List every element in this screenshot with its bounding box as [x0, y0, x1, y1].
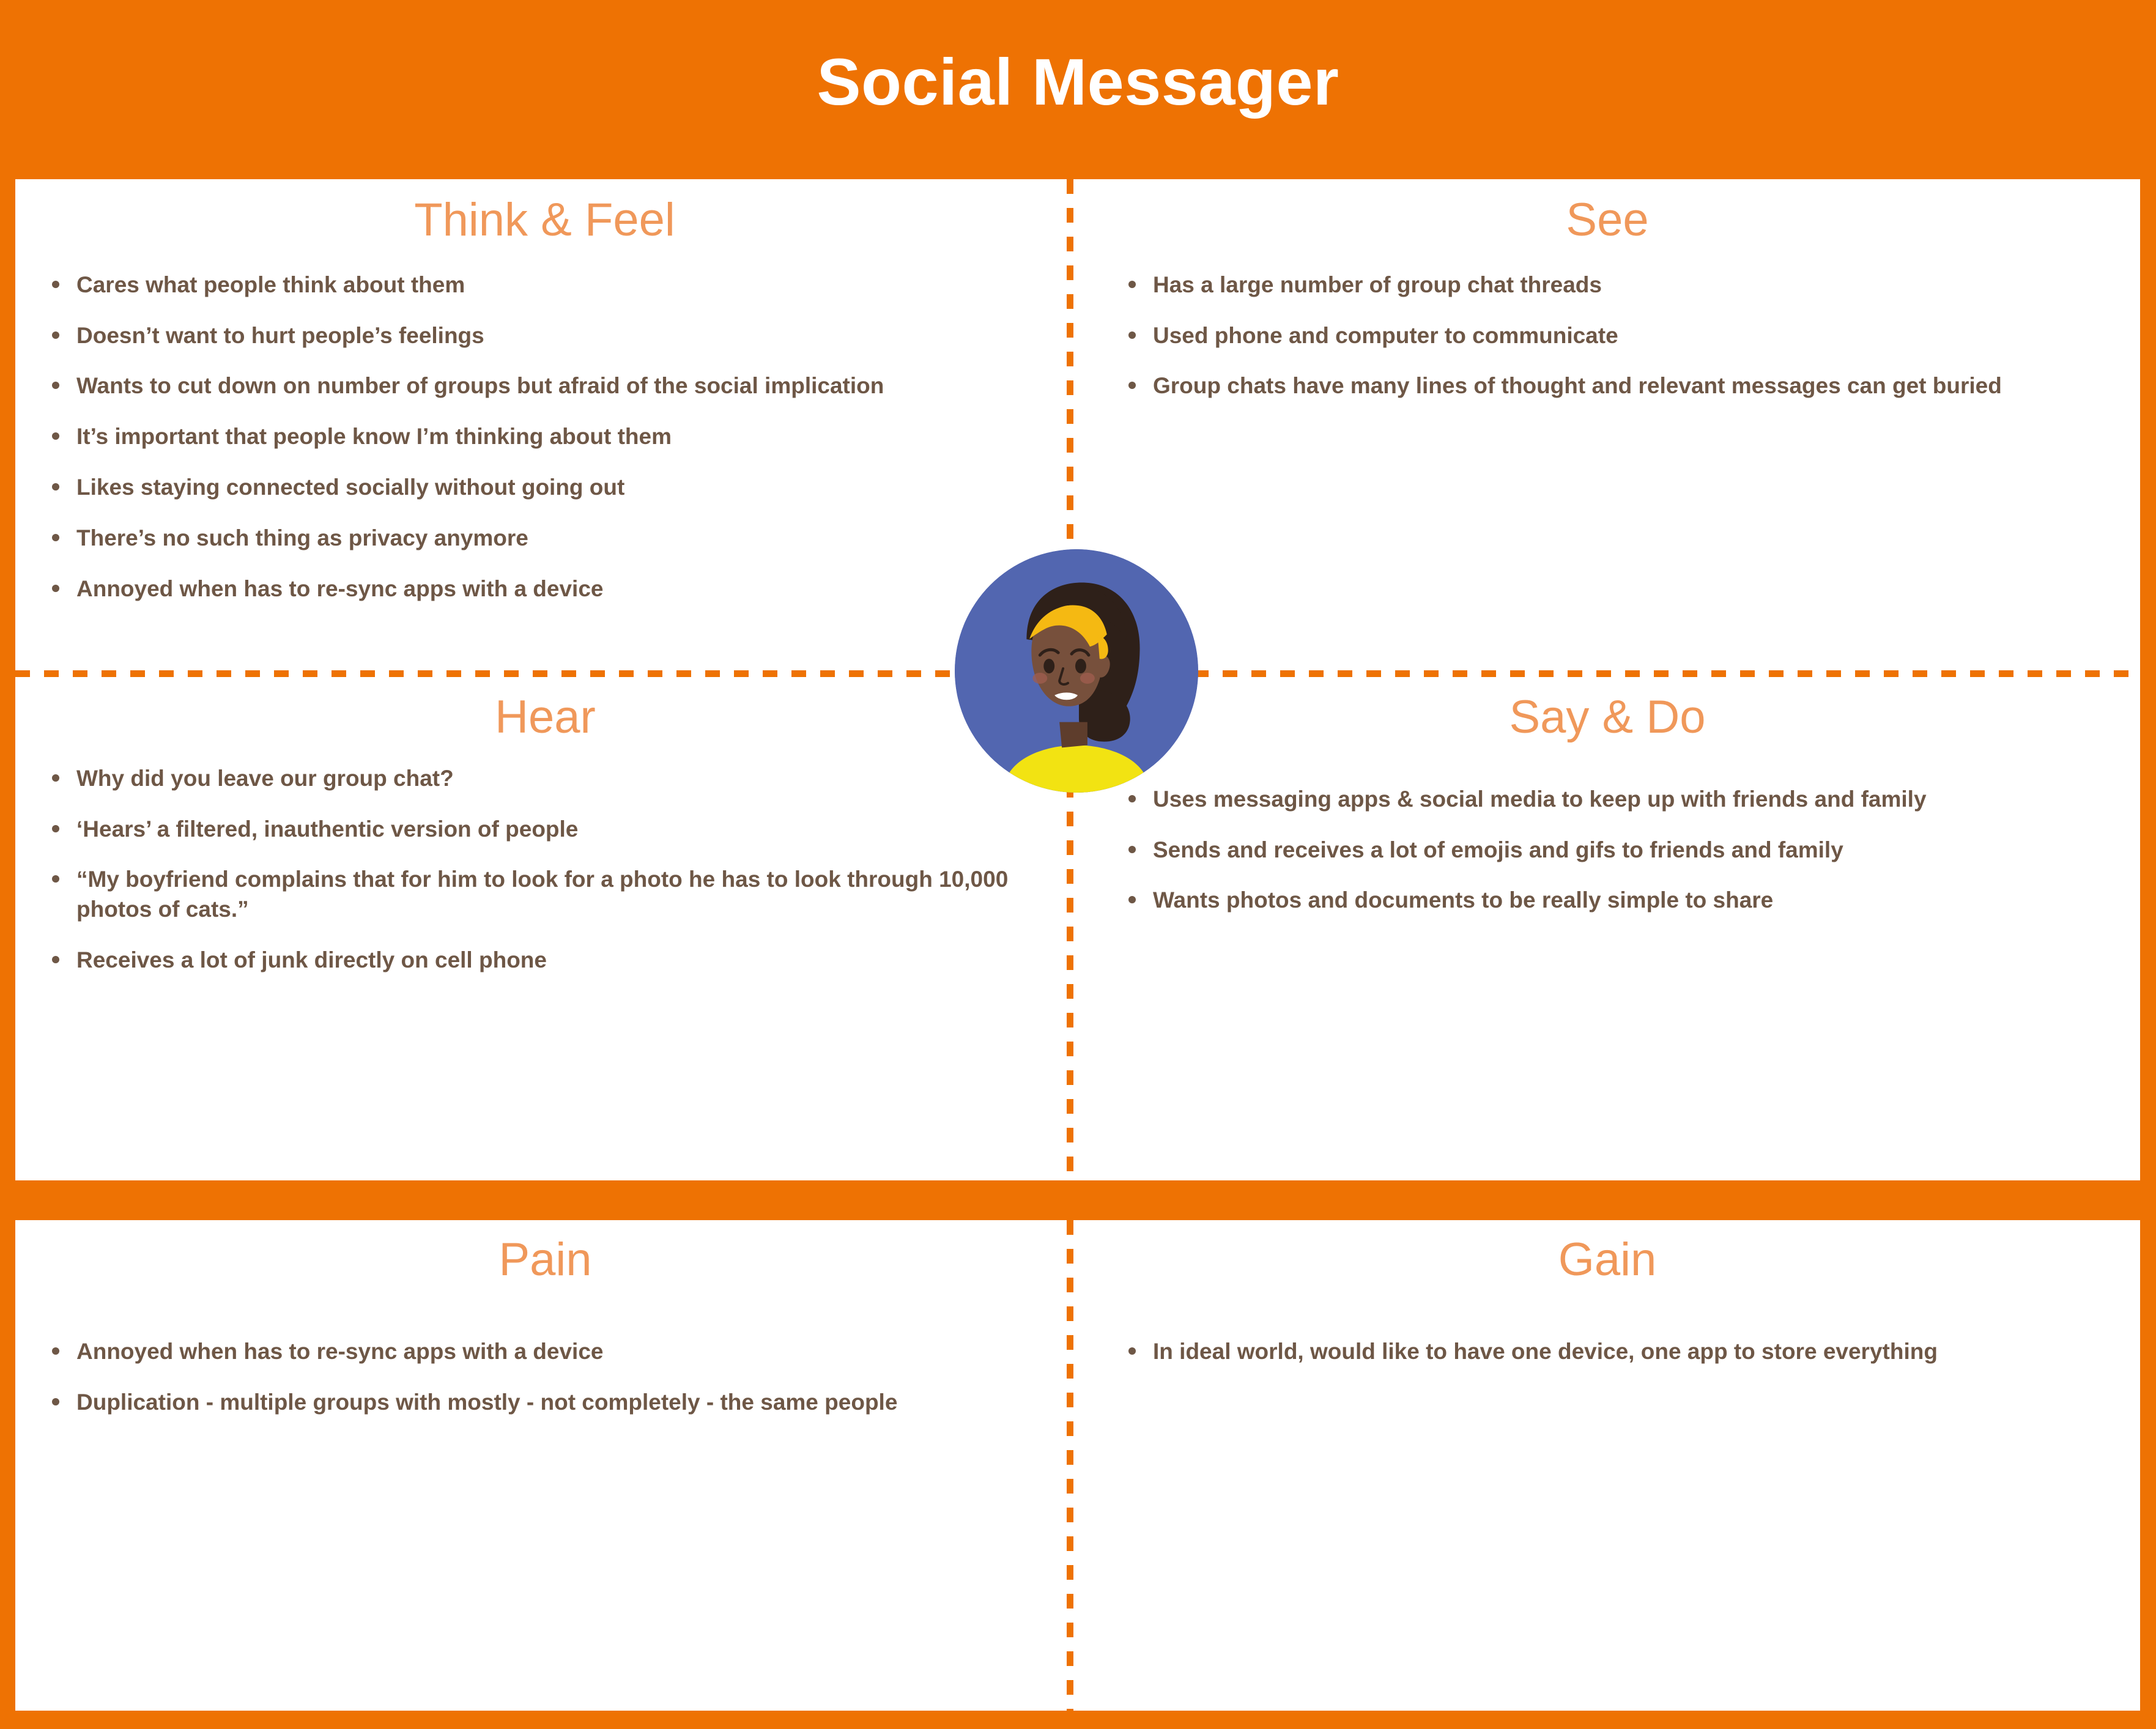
list-item: Used phone and computer to communicate — [1121, 321, 2103, 351]
list-item-text: Sends and receives a lot of emojis and g… — [1153, 837, 1843, 862]
list-item-text: Uses messaging apps & social media to ke… — [1153, 787, 1927, 812]
list-item: In ideal world, would like to have one d… — [1121, 1337, 2103, 1367]
list-item: Uses messaging apps & social media to ke… — [1121, 785, 2103, 815]
list-item-text: Wants photos and documents to be really … — [1153, 887, 1773, 913]
list-item-text: Annoyed when has to re-sync apps with a … — [76, 576, 604, 601]
title-band: Social Messager — [0, 0, 2156, 179]
list-item: Sends and receives a lot of emojis and g… — [1121, 835, 2103, 865]
list-item: There’s no such thing as privacy anymore — [45, 524, 1041, 554]
bullet-dot-icon — [52, 875, 59, 883]
list-item-text: Duplication - multiple groups with mostl… — [76, 1390, 897, 1415]
bullet-list-see: Has a large number of group chat threads… — [1121, 270, 2103, 401]
bullet-dot-icon — [52, 825, 59, 832]
section-pain: Pain Annoyed when has to re-sync apps wi… — [15, 1235, 1067, 1438]
list-item: Receives a lot of junk directly on cell … — [45, 946, 1042, 976]
section-gain: Gain In ideal world, would like to have … — [1073, 1235, 2140, 1388]
quadrant-say-do: Say & Do Uses messaging apps & social me… — [1073, 693, 2140, 936]
quadrant-hear: Hear Why did you leave our group chat? ‘… — [15, 693, 1067, 996]
quadrant-title-think-feel: Think & Feel — [46, 196, 1043, 245]
persona-avatar — [955, 549, 1198, 793]
list-item-text: Has a large number of group chat threads — [1153, 272, 1602, 297]
list-item: Wants to cut down on number of groups bu… — [45, 371, 1041, 401]
quadrant-see: See Has a large number of group chat thr… — [1073, 196, 2140, 422]
list-item-text: Group chats have many lines of thought a… — [1153, 373, 2002, 398]
bullet-dot-icon — [52, 432, 59, 440]
list-item: Has a large number of group chat threads — [1121, 270, 2103, 300]
list-item: Why did you leave our group chat? — [45, 764, 1042, 794]
bullet-list-think-feel: Cares what people think about them Doesn… — [45, 270, 1041, 604]
section-title-gain: Gain — [1116, 1235, 2099, 1284]
quadrant-title-say-do: Say & Do — [1116, 693, 2099, 742]
bullet-dot-icon — [1128, 795, 1136, 802]
quadrant-title-see: See — [1116, 196, 2099, 245]
page-title: Social Messager — [817, 49, 1339, 131]
bullet-dot-icon — [52, 534, 59, 541]
quadrant-title-hear: Hear — [46, 693, 1044, 742]
bullet-dot-icon — [1128, 896, 1136, 903]
bullet-list-gain: In ideal world, would like to have one d… — [1121, 1337, 2103, 1367]
list-item-text: Receives a lot of junk directly on cell … — [76, 947, 547, 972]
list-item: Wants photos and documents to be really … — [1121, 886, 2103, 916]
list-item: ‘Hears’ a filtered, inauthentic version … — [45, 815, 1042, 845]
list-item: Group chats have many lines of thought a… — [1121, 371, 2103, 401]
list-item-text: Likes staying connected socially without… — [76, 475, 624, 500]
bullet-dot-icon — [52, 382, 59, 389]
bullet-list-say-do: Uses messaging apps & social media to ke… — [1121, 785, 2103, 916]
bullet-dot-icon — [1128, 281, 1136, 288]
list-item-text: In ideal world, would like to have one d… — [1153, 1339, 1938, 1364]
list-item-text: Doesn’t want to hurt people’s feelings — [76, 323, 484, 348]
empathy-map-board: Social Messager Think & Feel Cares what … — [0, 0, 2156, 1729]
persona-avatar-illustration — [955, 549, 1198, 793]
list-item: Doesn’t want to hurt people’s feelings — [45, 321, 1041, 351]
list-item: “My boyfriend complains that for him to … — [45, 865, 1042, 925]
bullet-dot-icon — [52, 585, 59, 592]
list-item-text: Used phone and computer to communicate — [1153, 323, 1618, 348]
list-item-text: Annoyed when has to re-sync apps with a … — [76, 1339, 604, 1364]
bullet-dot-icon — [1128, 1347, 1136, 1355]
bullet-list-hear: Why did you leave our group chat? ‘Hears… — [45, 764, 1042, 976]
list-item: Duplication - multiple groups with mostl… — [45, 1388, 1042, 1418]
list-item-text: Why did you leave our group chat? — [76, 766, 454, 791]
vertical-divider-lower — [1067, 1220, 1073, 1711]
bullet-dot-icon — [52, 483, 59, 491]
list-item-text: There’s no such thing as privacy anymore — [76, 525, 528, 550]
list-item-text: Cares what people think about them — [76, 272, 465, 297]
bullet-dot-icon — [1128, 331, 1136, 339]
list-item-text: ‘Hears’ a filtered, inauthentic version … — [76, 816, 578, 842]
bullet-dot-icon — [52, 956, 59, 963]
bullet-dot-icon — [52, 1347, 59, 1355]
list-item-text: Wants to cut down on number of groups bu… — [76, 373, 884, 398]
bullet-dot-icon — [52, 774, 59, 782]
bullet-dot-icon — [52, 281, 59, 288]
section-title-pain: Pain — [46, 1235, 1044, 1284]
bullet-dot-icon — [1128, 846, 1136, 853]
list-item: Cares what people think about them — [45, 270, 1041, 300]
bullet-dot-icon — [52, 1398, 59, 1405]
list-item: Annoyed when has to re-sync apps with a … — [45, 574, 1041, 604]
list-item-text: “My boyfriend complains that for him to … — [76, 867, 1008, 922]
bullet-dot-icon — [52, 331, 59, 339]
quadrant-think-feel: Think & Feel Cares what people think abo… — [15, 196, 1067, 625]
bullet-list-pain: Annoyed when has to re-sync apps with a … — [45, 1337, 1042, 1418]
list-item: Annoyed when has to re-sync apps with a … — [45, 1337, 1042, 1367]
list-item-text: It’s important that people know I’m thin… — [76, 424, 672, 449]
list-item: It’s important that people know I’m thin… — [45, 422, 1041, 452]
list-item: Likes staying connected socially without… — [45, 473, 1041, 503]
bullet-dot-icon — [1128, 382, 1136, 389]
